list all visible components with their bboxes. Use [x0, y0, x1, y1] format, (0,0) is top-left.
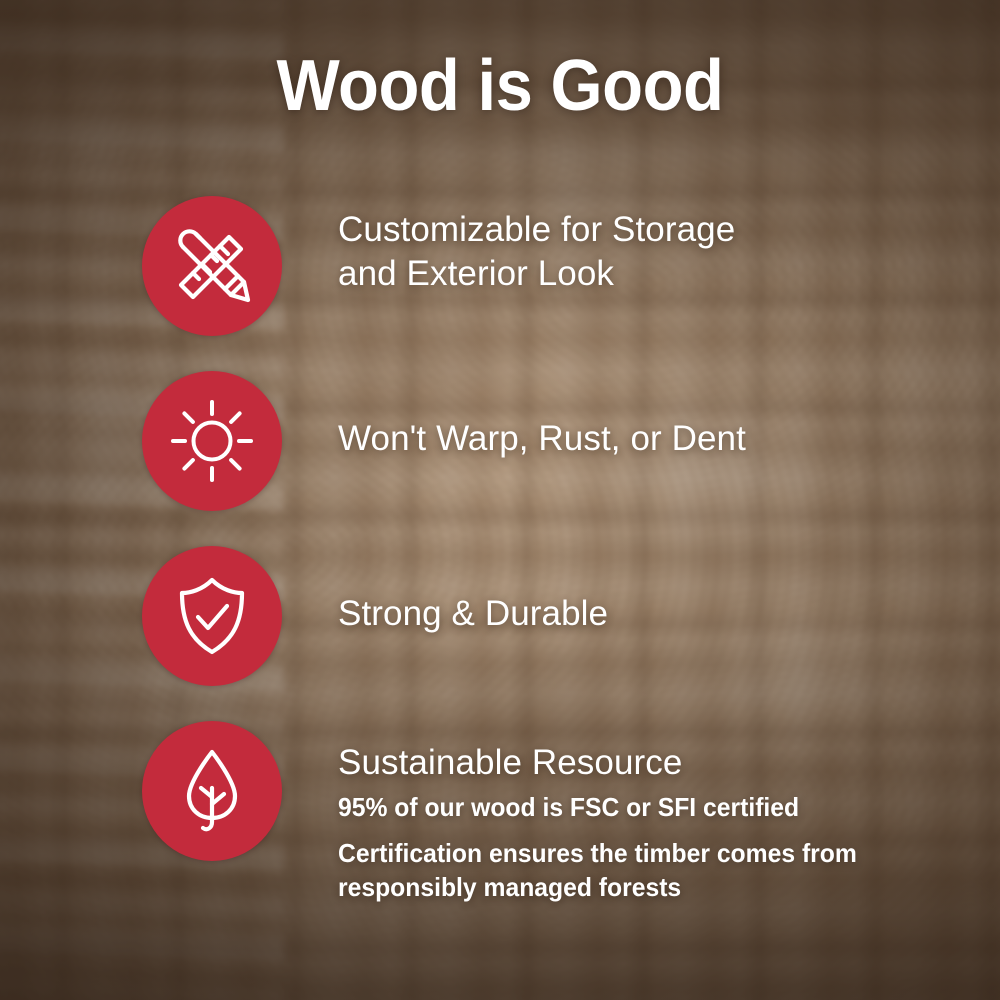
feature-item-strong-durable: Strong & Durable [0, 546, 1000, 690]
feature-item-wont-warp: Won't Warp, Rust, or Dent [0, 371, 1000, 515]
sun-icon [169, 398, 255, 484]
feature-heading-line2: and Exterior Look [338, 252, 1000, 296]
feature-heading-line1: Strong & Durable [338, 592, 1000, 636]
feature-sub-certification-line2: responsibly managed forests [338, 871, 967, 905]
feature-heading-line1: Sustainable Resource [338, 741, 1000, 785]
leaf-icon [169, 748, 255, 834]
icon-badge-strong-durable [142, 546, 282, 686]
feature-sub-certification-line1: Certification ensures the timber comes f… [338, 837, 967, 871]
pencil-ruler-icon [169, 223, 255, 309]
feature-text-wont-warp: Won't Warp, Rust, or Dent [338, 371, 1000, 461]
icon-badge-sustainable [142, 721, 282, 861]
feature-sub-certified: 95% of our wood is FSC or SFI certified [338, 791, 967, 825]
page-title: Wood is Good [35, 50, 965, 122]
feature-heading-line1: Customizable for Storage [338, 208, 1000, 252]
feature-item-customizable: Customizable for Storage and Exterior Lo… [0, 196, 1000, 340]
icon-badge-wont-warp [142, 371, 282, 511]
feature-text-customizable: Customizable for Storage and Exterior Lo… [338, 196, 1000, 296]
feature-item-sustainable: Sustainable Resource 95% of our wood is … [0, 721, 1000, 904]
feature-list: Customizable for Storage and Exterior Lo… [0, 196, 1000, 904]
content-layer: Wood is Good [0, 0, 1000, 1000]
icon-badge-customizable [142, 196, 282, 336]
feature-text-sustainable: Sustainable Resource 95% of our wood is … [338, 721, 1000, 904]
feature-heading-line1: Won't Warp, Rust, or Dent [338, 417, 1000, 461]
infographic-canvas: Wood is Good [0, 0, 1000, 1000]
shield-check-icon [169, 573, 255, 659]
feature-text-strong-durable: Strong & Durable [338, 546, 1000, 636]
